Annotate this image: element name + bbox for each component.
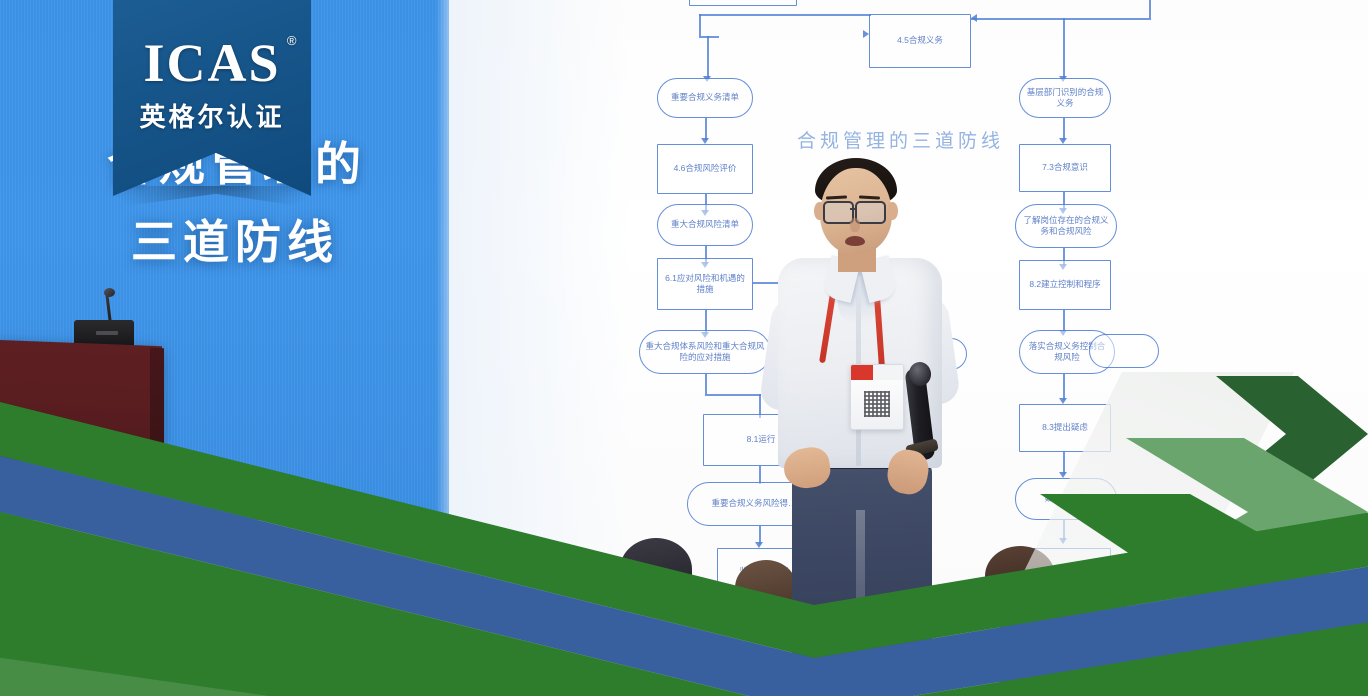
flow-line — [705, 118, 707, 140]
flow-line — [1063, 374, 1065, 400]
registered-trademark-icon: ® — [287, 34, 297, 47]
flow-node-right-1: 基层部门识别的合规义务 — [1019, 78, 1111, 118]
flow-line — [971, 18, 1151, 20]
flow-line — [1149, 0, 1151, 18]
flow-line — [1063, 118, 1065, 140]
icas-wordmark: ICAS ® — [143, 36, 280, 90]
gooseneck-microphone-icon — [104, 288, 115, 297]
qr-code-icon — [864, 391, 890, 417]
flow-node-left-2: 4.6合规风险评价 — [657, 144, 753, 194]
speaker-nose — [850, 218, 860, 232]
conference-stage-photo: 合规管理的 三道防线 ICAS ® 英格尔认证 合规管理的三道防线 4.5合规义… — [0, 0, 1368, 696]
flow-line — [705, 374, 707, 394]
eyeglasses-bridge — [850, 208, 857, 210]
flow-node-right-4: 8.2建立控制和程序 — [1019, 260, 1111, 310]
flow-node-left-5: 重大合规体系风险和重大合规风险的应对措施 — [639, 330, 771, 374]
flow-node-top-center: 4.5合规义务 — [869, 14, 971, 68]
speaker-ear-right — [887, 202, 898, 220]
icas-chinese-name: 英格尔认证 — [139, 97, 284, 134]
flow-arrow-into-top-box — [863, 30, 869, 38]
flow-node-right-2: 7.3合规意识 — [1019, 144, 1111, 192]
flow-line — [707, 36, 709, 78]
speaker-mouth — [845, 236, 865, 246]
flow-line — [699, 14, 701, 36]
flow-line — [1063, 310, 1065, 332]
wall-headline-main: 三道防线 — [60, 206, 410, 272]
flow-node-left-1: 重要合规义务清单 — [657, 78, 753, 118]
flow-node-top-partial — [689, 0, 797, 6]
flow-line — [705, 394, 761, 396]
flow-node-left-3: 重大合规风险清单 — [657, 204, 753, 246]
slide-title: 合规管理的三道防线 — [797, 126, 1004, 153]
badge-header-band — [851, 365, 903, 380]
flow-arrow-into-top-box-right — [971, 14, 977, 22]
podium-equipment-led — [96, 331, 118, 335]
flow-line — [1063, 452, 1065, 474]
flow-node-right-3: 了解岗位存在的合规义务和合规风险 — [1015, 204, 1117, 248]
flow-node-left-4: 6.1应对风险和机遇的措施 — [657, 258, 753, 310]
flow-line — [699, 14, 871, 16]
flow-line — [1063, 18, 1065, 78]
speaker-presenter — [760, 150, 1010, 620]
icas-wordmark-text: ICAS — [143, 33, 280, 93]
flow-line — [699, 36, 719, 38]
speaker-name-badge — [850, 364, 904, 430]
flow-node-mid-right-b — [1089, 334, 1159, 368]
